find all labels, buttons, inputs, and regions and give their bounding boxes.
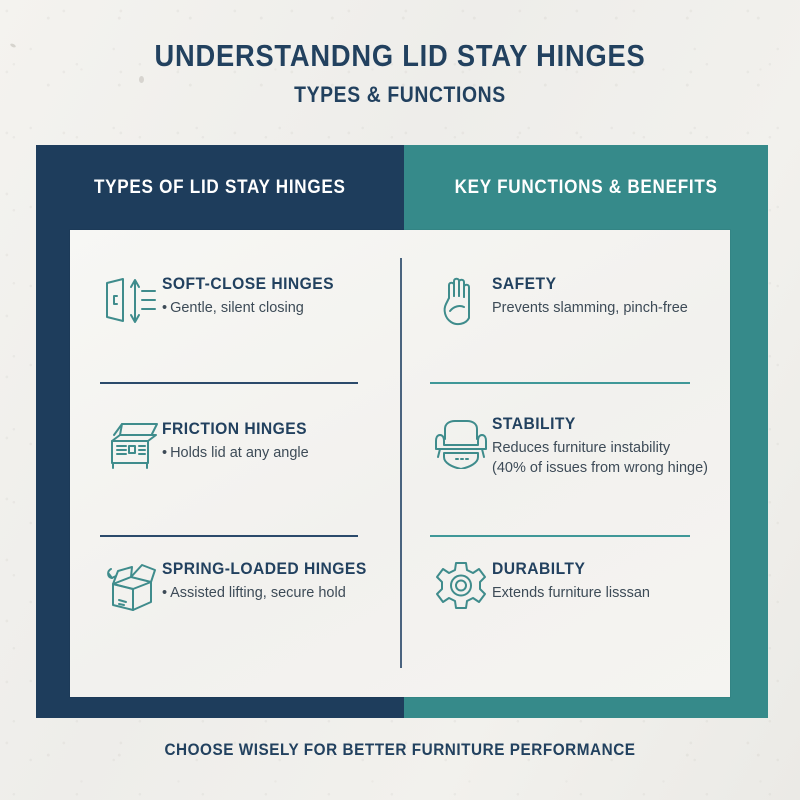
bullet-glyph: • [162,300,167,316]
armchair-shield-icon [430,410,492,472]
item-desc: •Holds lid at any angle [162,444,320,463]
item-desc: •Assisted lifting, secure hold [162,584,385,603]
item-desc-line-2: (40% of issues from wrong hinge) [492,459,708,478]
item-desc-text: Assisted lifting, secure hold [170,585,346,601]
item-text-stability: STABILITY Reduces furniture instability … [492,410,708,478]
item-text-spring-loaded: SPRING-LOADED HINGES •Assisted lifting, … [162,555,385,603]
item-title: SAFETY [492,274,672,294]
list-item-soft-close[interactable]: SOFT-CLOSE HINGES •Gentle, silent closin… [100,270,349,332]
row-divider [430,535,690,537]
panel-header-functions: KEY FUNCTIONS & BENEFITS [404,145,768,230]
gear-icon [430,555,492,617]
list-item-safety[interactable]: SAFETY Prevents slamming, pinch-free [430,270,688,332]
row-divider [100,535,358,537]
item-desc-line-1: Reduces furniture instability [492,439,708,458]
row-divider [100,382,358,384]
item-desc-text: Holds lid at any angle [170,445,309,461]
open-box-spring-icon [100,555,162,617]
item-title: SPRING-LOADED HINGES [162,559,367,579]
list-item-spring-loaded[interactable]: SPRING-LOADED HINGES •Assisted lifting, … [100,555,385,617]
door-soft-close-icon [100,270,162,332]
column-functions: SAFETY Prevents slamming, pinch-free [400,230,730,697]
infographic-canvas: UNDERSTANDNG LID STAY HINGES TYPES & FUN… [0,0,800,800]
content-card: SOFT-CLOSE HINGES •Gentle, silent closin… [70,230,730,697]
page-subtitle: TYPES & FUNCTIONS [48,82,752,108]
footer-block: CHOOSE WISELY FOR BETTER FURNITURE PERFO… [0,740,800,760]
item-text-soft-close: SOFT-CLOSE HINGES •Gentle, silent closin… [162,270,349,318]
list-item-durability[interactable]: DURABILTY Extends furniture lisssan [430,555,650,617]
panel-heading-functions: KEY FUNCTIONS & BENEFITS [454,177,717,199]
footer-tagline: CHOOSE WISELY FOR BETTER FURNITURE PERFO… [40,740,760,760]
row-divider [430,382,690,384]
list-item-friction[interactable]: FRICTION HINGES •Holds lid at any angle [100,415,320,477]
item-title: DURABILTY [492,559,637,579]
item-desc: Prevents slamming, pinch-free [492,299,688,318]
item-title: FRICTION HINGES [162,419,307,439]
item-text-friction: FRICTION HINGES •Holds lid at any angle [162,415,320,463]
item-text-safety: SAFETY Prevents slamming, pinch-free [492,270,688,318]
item-text-durability: DURABILTY Extends furniture lisssan [492,555,650,603]
bullet-glyph: • [162,445,167,461]
title-block: UNDERSTANDNG LID STAY HINGES TYPES & FUN… [0,40,800,108]
item-title: SOFT-CLOSE HINGES [162,274,334,294]
item-desc-text: Gentle, silent closing [170,300,304,316]
page-title: UNDERSTANDNG LID STAY HINGES [48,40,752,73]
item-desc: Extends furniture lisssan [492,584,650,603]
bullet-glyph: • [162,585,167,601]
hand-icon [430,270,492,332]
item-desc: •Gentle, silent closing [162,299,349,318]
column-types: SOFT-CLOSE HINGES •Gentle, silent closin… [70,230,400,697]
chest-box-icon [100,415,162,477]
item-title: STABILITY [492,414,691,434]
list-item-stability[interactable]: STABILITY Reduces furniture instability … [430,410,708,478]
panel-header-types: TYPES OF LID STAY HINGES [36,145,404,230]
panel-heading-types: TYPES OF LID STAY HINGES [94,177,346,199]
